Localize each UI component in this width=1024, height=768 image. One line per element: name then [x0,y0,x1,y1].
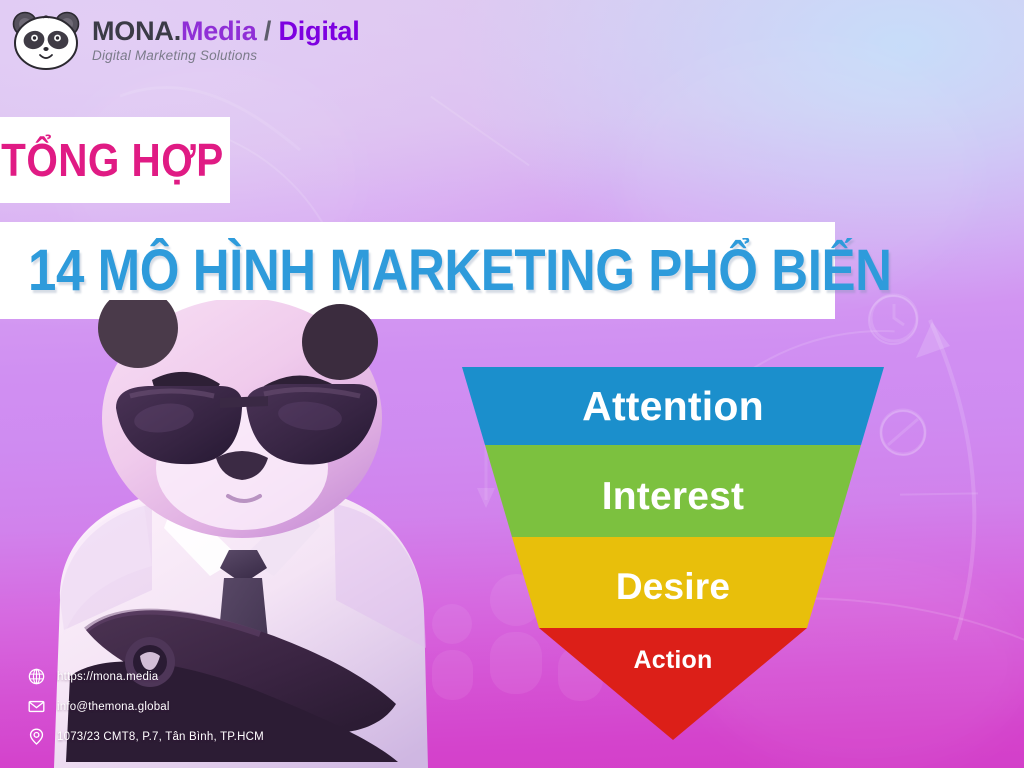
location-pin-icon [28,728,45,745]
contact-row-address[interactable]: 1073/23 CMT8, P.7, Tân Bình, TP.HCM [28,728,264,745]
globe-icon [28,668,45,685]
envelope-icon [28,698,45,715]
poster-canvas: MONA.Media / Digital Digital Marketing S… [0,0,1024,768]
contact-row-website[interactable]: https://mona.media [28,668,264,685]
contact-info: https://mona.media info@themona.global 1… [28,668,264,745]
contact-email-text: info@themona.global [57,701,170,713]
aida-funnel-chart [0,0,1024,768]
funnel-band-interest [485,445,861,537]
contact-address-text: 1073/23 CMT8, P.7, Tân Bình, TP.HCM [57,731,264,743]
funnel-band-action [539,628,807,740]
funnel-band-attention [462,367,884,445]
funnel-band-desire [512,537,834,628]
contact-website-text: https://mona.media [57,671,158,683]
contact-row-email[interactable]: info@themona.global [28,698,264,715]
